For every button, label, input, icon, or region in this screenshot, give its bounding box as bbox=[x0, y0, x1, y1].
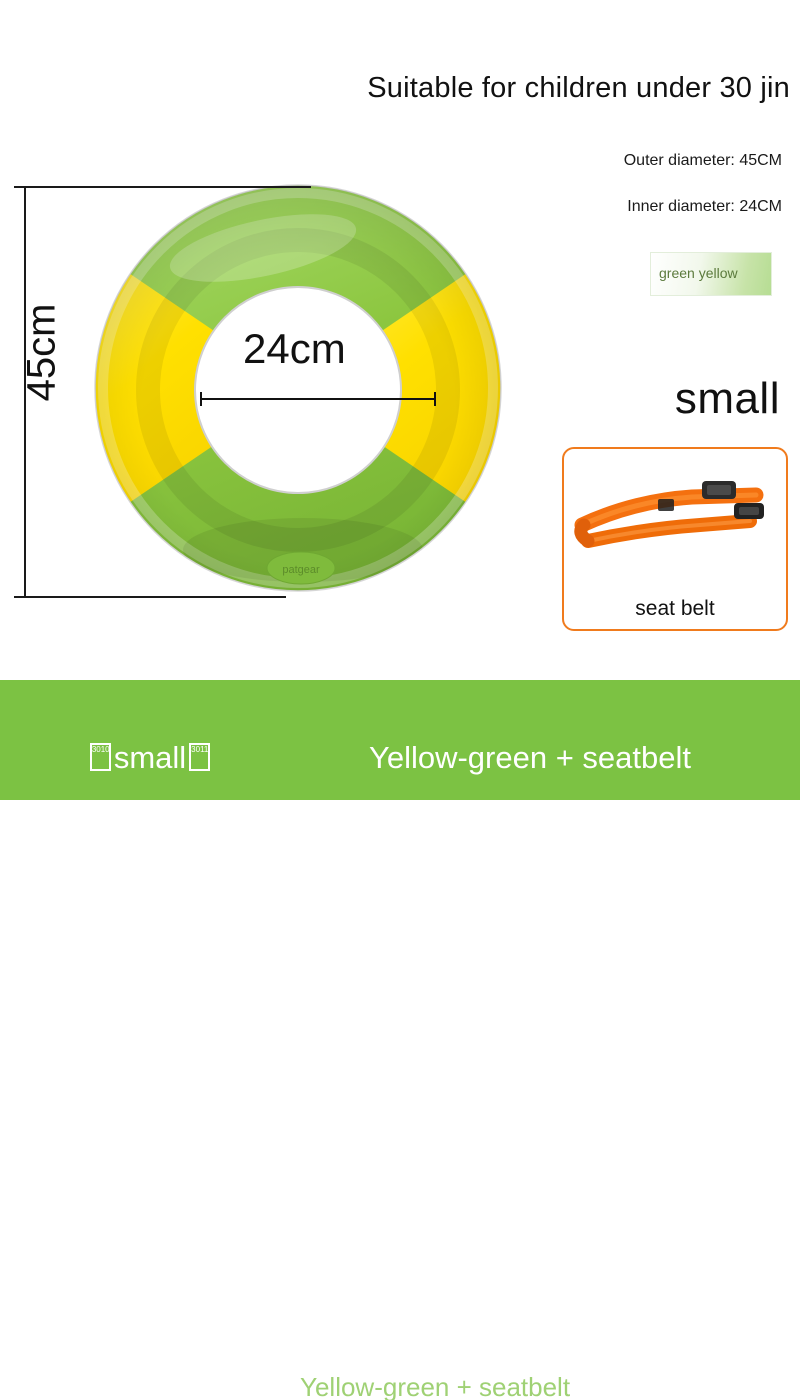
spec-inner-diameter: Inner diameter: 24CM bbox=[627, 198, 782, 216]
inner-dimension-arrow bbox=[200, 398, 436, 400]
bottom-banner-size: 3010small3011 bbox=[0, 740, 300, 776]
product-image: Suitable for children under 30 jin Outer… bbox=[0, 0, 800, 800]
bottom-banner-watermark: Yellow-green + seatbelt bbox=[300, 1372, 760, 1400]
seat-belt-label: seat belt bbox=[564, 597, 786, 621]
missing-glyph-icon: 3010 bbox=[90, 743, 111, 771]
bottom-banner: Yellow-green + seatbelt 3010small3011 Ye… bbox=[0, 680, 800, 800]
outer-guide-line-top bbox=[26, 186, 311, 188]
spec-outer-diameter: Outer diameter: 45CM bbox=[624, 152, 782, 170]
color-swatch-label: green yellow bbox=[659, 265, 738, 281]
size-label: small bbox=[675, 374, 780, 424]
inner-dimension-label: 24cm bbox=[243, 325, 346, 373]
missing-glyph-icon: 3011 bbox=[189, 743, 210, 771]
swim-ring-illustration: patgear bbox=[88, 178, 508, 598]
bottom-banner-size-text: small bbox=[114, 740, 186, 775]
outer-guide-line-bottom bbox=[26, 596, 286, 598]
outer-dimension-label: 45cm bbox=[20, 298, 65, 408]
brand-mark-text: patgear bbox=[282, 564, 320, 576]
color-swatch: green yellow bbox=[650, 252, 772, 296]
bottom-banner-variant: Yellow-green + seatbelt bbox=[300, 740, 800, 776]
seat-belt-card: seat belt bbox=[562, 447, 788, 631]
page-title: Suitable for children under 30 jin bbox=[280, 72, 790, 105]
seat-belt-icon bbox=[574, 467, 776, 567]
